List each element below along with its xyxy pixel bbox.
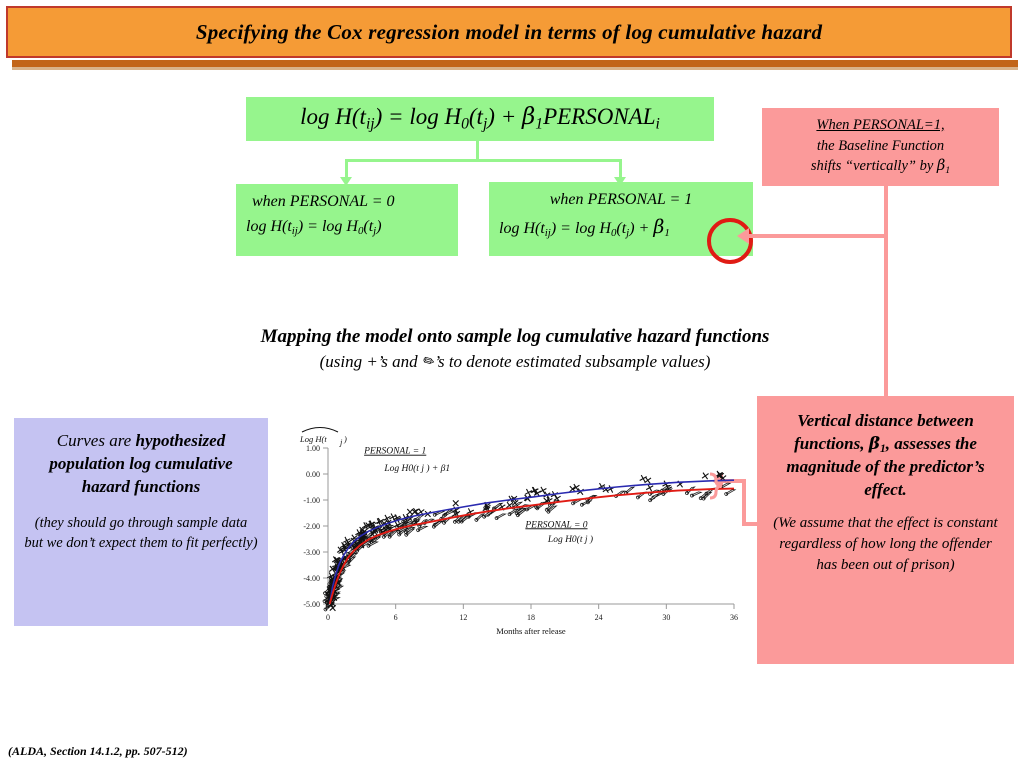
chart-marker-pencil xyxy=(614,489,625,498)
chart-x-tick-label: 6 xyxy=(394,613,398,622)
note-right-head: Vertical distance between functions, β1,… xyxy=(769,410,1002,501)
chart-annotation: Log H0(t j ) xyxy=(547,534,593,545)
chart-x-tick-label: 36 xyxy=(730,613,738,622)
chart-svg: Log H(t j ) 1.000.00-1.00-2.00-3.00-4.00… xyxy=(296,424,744,646)
chart-annotation: PERSONAL = 1 xyxy=(363,447,426,457)
chart-marker-pencil xyxy=(636,490,647,499)
svg-text:j: j xyxy=(339,437,343,447)
note-top-line1: When PERSONAL=1, xyxy=(770,115,991,136)
mapping-heading-block: Mapping the model onto sample log cumula… xyxy=(150,326,880,372)
branch-formula-personal-0: log H(tij) = log H0(tj) xyxy=(246,215,448,240)
branch-condition-personal-0: when PERSONAL = 0 xyxy=(246,190,448,215)
note-left-body: (they should go through sample data but … xyxy=(24,513,258,554)
branch-condition-personal-1: when PERSONAL = 1 xyxy=(499,188,743,213)
chart-x-ticks: 061218243036 xyxy=(326,604,738,622)
svg-text:): ) xyxy=(343,434,347,444)
connector-vertical-main xyxy=(476,141,479,160)
chart-y-tick-label: -1.00 xyxy=(303,496,320,505)
note-top-line2: the Baseline Function xyxy=(770,136,991,157)
chart-y-tick-label: -3.00 xyxy=(303,548,320,557)
pink-connector-vertical-long xyxy=(884,236,888,398)
chart-marker-plus xyxy=(675,479,686,490)
chart-y-tick-label: 0.00 xyxy=(306,470,320,479)
svg-text:Log H(t: Log H(t xyxy=(299,434,327,444)
chart-curve-personal-1 xyxy=(330,480,734,604)
mapping-subheading: (using +’s and ✎’s to denote estimated s… xyxy=(150,352,880,372)
connector-vertical-right xyxy=(619,159,622,179)
chart-y-tick-label: -2.00 xyxy=(303,522,320,531)
mapping-sub-part-b: ’s to denote estimated subsample values) xyxy=(434,352,710,371)
connector-horizontal-main xyxy=(345,159,622,162)
pink-connector-vertical-top xyxy=(884,186,888,236)
note-right-body: (We assume that the effect is constant r… xyxy=(769,513,1002,576)
connector-vertical-left xyxy=(345,159,348,179)
chart-x-tick-label: 24 xyxy=(595,613,603,622)
mapping-sub-part-a: (using +’s and xyxy=(320,352,422,371)
chart-annotation: PERSONAL = 0 xyxy=(524,520,587,530)
main-equation-text: log H(tij) = log H0(tj) + β1PERSONALi xyxy=(300,104,660,133)
chart-y-tick-label: 1.00 xyxy=(306,444,320,453)
note-top-line3: shifts “vertically” by β1 xyxy=(770,156,991,178)
note-left-head-plain: Curves are xyxy=(57,431,136,450)
banner-shadow xyxy=(12,60,1018,67)
main-equation-box: log H(tij) = log H0(tj) + β1PERSONALi xyxy=(246,97,714,141)
source-citation: (ALDA, Section 14.1.2, pp. 507-512) xyxy=(8,744,188,759)
chart-x-tick-label: 30 xyxy=(662,613,670,622)
chart-marker-pencil xyxy=(690,490,702,497)
note-top-right: When PERSONAL=1, the Baseline Function s… xyxy=(762,108,999,186)
chart-y-tick-label: -4.00 xyxy=(303,574,320,583)
page-title: Specifying the Cox regression model in t… xyxy=(196,20,822,45)
note-left-purple: Curves are hypothesized population log c… xyxy=(14,418,268,626)
note-left-head: Curves are hypothesized population log c… xyxy=(24,430,258,499)
chart-marker-pencil xyxy=(495,512,506,520)
note-right-pink: Vertical distance between functions, β1,… xyxy=(757,396,1014,664)
chart-x-tick-label: 12 xyxy=(459,613,467,622)
pink-arrow-head-icon xyxy=(737,228,749,244)
chart-y-ticks: 1.000.00-1.00-2.00-3.00-4.00-5.00 xyxy=(303,444,328,609)
chart-y-tick-label: -5.00 xyxy=(303,600,320,609)
pink-connector-horizontal-to-beta xyxy=(748,234,886,238)
log-cumulative-hazard-chart: Log H(t j ) 1.000.00-1.00-2.00-3.00-4.00… xyxy=(296,424,744,646)
chart-x-axis-title: Months after release xyxy=(496,626,566,636)
chart-annotation: Log H0(t j ) + β1 xyxy=(383,463,450,474)
chart-curve-personal-0 xyxy=(330,489,734,604)
chart-x-tick-label: 0 xyxy=(326,613,330,622)
banner-shadow-soft xyxy=(12,67,1018,70)
chart-x-tick-label: 18 xyxy=(527,613,535,622)
branch-box-personal-0: when PERSONAL = 0 log H(tij) = log H0(tj… xyxy=(236,184,458,256)
slide-title-banner: Specifying the Cox regression model in t… xyxy=(6,6,1012,58)
mapping-heading: Mapping the model onto sample log cumula… xyxy=(150,326,880,348)
chart-marker-plus xyxy=(700,470,711,481)
